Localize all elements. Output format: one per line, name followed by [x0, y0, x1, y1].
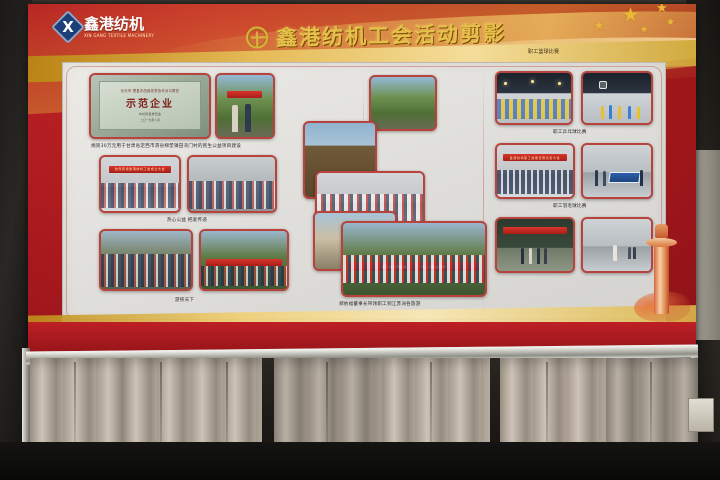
caption-charity-love: 热心公益 把爱传递	[167, 217, 207, 223]
temple-visit-photo[interactable]	[369, 75, 437, 131]
large-group-photo[interactable]: 携手扶贫奔富路 齐心共铸鑫港梦	[341, 221, 487, 297]
plaque-main-text: 示范企业	[126, 95, 174, 110]
wall-cabinet	[688, 398, 714, 432]
floor-shadow	[0, 442, 720, 480]
employee-outing-photo[interactable]	[99, 229, 193, 291]
huabiao-column-decoration	[640, 218, 684, 338]
plaque-sub-left: 中共渭县委员会	[139, 112, 161, 116]
star-icon: ★	[640, 26, 648, 35]
model-enterprise-plaque[interactable]: 长乐市·渭县东西部扶贫协作对口帮扶 示范企业 中共渭县委员会 二〇一九年八月	[89, 73, 211, 139]
photo-panel: 长乐市·渭县东西部扶贫协作对口帮扶 示范企业 中共渭县委员会 二〇一九年八月 捐…	[62, 62, 666, 324]
table-tennis-group-photo[interactable]: 鑫港纺机职工技能竞赛表彰大会	[495, 143, 575, 199]
caption-table-tennis: 职工乒乓球比赛	[553, 129, 587, 135]
caption-travel-left: 游侠天下	[175, 297, 194, 303]
charity-handover-photo[interactable]	[187, 155, 277, 213]
union-badge-icon	[246, 26, 268, 48]
diamond-x-logo-icon	[51, 10, 85, 44]
plaque-top-line: 长乐市·渭县东西部扶贫协作对口帮扶	[121, 88, 180, 93]
plaque-date: 二〇一九年八月	[140, 118, 160, 122]
star-icon: ★	[656, 4, 668, 15]
logo-company-name-en: XIN GANG TEXTILE MACHINERY	[84, 34, 154, 38]
caption-group-travel: 郑依福董事长带领职工到江苏洲各旅游	[339, 301, 421, 307]
table-tennis-play-photo[interactable]	[581, 143, 653, 199]
photograph-scene: ★ ★ ★ ★ ★ 鑫港纺机 XIN GANG TEXTILE MACHINER…	[0, 0, 720, 480]
page-title: 鑫港纺机工会活动剪影	[276, 17, 507, 52]
company-logo: 鑫港纺机 XIN GANG TEXTILE MACHINERY	[52, 13, 158, 41]
scenic-bridge-photo[interactable]	[199, 229, 289, 291]
star-icon: ★	[666, 18, 675, 28]
basketball-game-photo[interactable]	[581, 71, 653, 125]
basketball-team-photo[interactable]	[495, 71, 573, 125]
caption-badminton: 职工羽毛球比赛	[553, 203, 587, 209]
logo-company-name-cn: 鑫港纺机	[84, 17, 154, 32]
banner-text-meeting: 鑫港纺机职工技能竞赛表彰大会	[503, 154, 567, 161]
display-board: ★ ★ ★ ★ ★ 鑫港纺机 XIN GANG TEXTILE MACHINER…	[28, 4, 696, 352]
caption-charity-project: 捐资30万元用于甘肃省定西市渭县梯堡镇田湾门村的民生公益项目建设	[91, 143, 241, 149]
volunteer-group-photo[interactable]: 热烈庆祝鑫港纺机工会成立大会	[99, 155, 181, 213]
badminton-award-photo[interactable]	[495, 217, 575, 273]
caption-basketball-top: 职工篮球比赛	[528, 48, 559, 55]
star-icon: ★	[622, 6, 639, 25]
board-title-group: 鑫港纺机工会活动剪影	[246, 17, 507, 52]
donation-ceremony-photo[interactable]	[215, 73, 275, 139]
star-icon: ★	[594, 20, 604, 31]
banner-text-award: 热烈庆祝鑫港纺机工会成立大会	[109, 166, 171, 174]
